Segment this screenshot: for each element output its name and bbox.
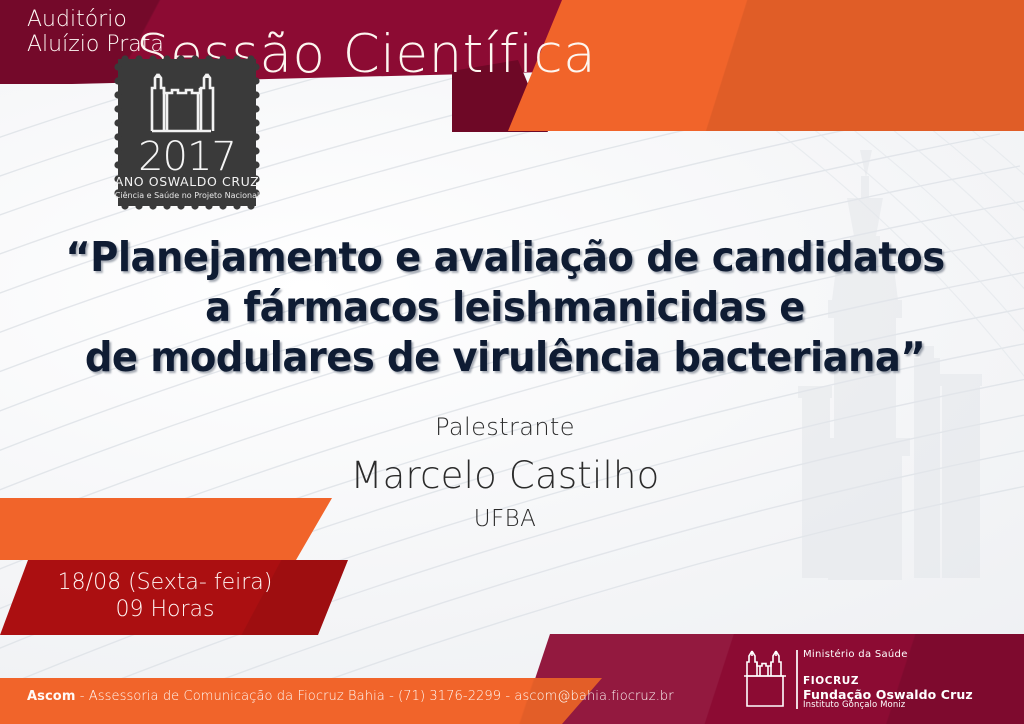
footer-contact-text: Ascom - Assessoria de Comunicação da Fio… [27, 689, 674, 704]
fiocruz-castle-icon [739, 648, 791, 710]
speaker-name: Marcelo Castilho [0, 454, 1010, 497]
institute-label: Instituto Gonçalo Moniz [803, 700, 905, 710]
footer-contact-rest: - Assessoria de Comunicação da Fiocruz B… [75, 689, 673, 704]
fiocruz-logo: Ministério da Saúde FIOCRUZ Fundação Osw… [739, 648, 1009, 710]
fiocruz-logo-divider [796, 650, 798, 709]
schedule-time: 09 Horas [0, 596, 330, 623]
lecture-title: “Planejamento e avaliação de candidatos … [0, 232, 1010, 382]
schedule-date: 18/08 (Sexta- feira) [0, 569, 330, 596]
svg-text:Ciência e Saúde no Projeto Nac: Ciência e Saúde no Projeto Nacional [115, 190, 259, 200]
schedule-text: 18/08 (Sexta- feira) 09 Horas [0, 569, 330, 623]
svg-text:ANO OSWALDO CRUZ: ANO OSWALDO CRUZ [115, 174, 260, 189]
speaker-role-label: Palestrante [0, 413, 1010, 441]
title-line-1: “Planejamento e avaliação de candidatos [30, 232, 979, 282]
poster-canvas: Sessão Científica [0, 0, 1024, 724]
venue-line-1: Auditório [27, 7, 164, 32]
title-line-3: de modulares de virulência bacteriana” [30, 332, 979, 382]
title-line-2: a fármacos leishmanicidas e [30, 282, 979, 332]
footer-ascom-label: Ascom [27, 689, 75, 704]
venue-text: Auditório Aluízio Prata [27, 7, 164, 57]
fiocruz-label: FIOCRUZ [803, 675, 859, 687]
ano-oswaldo-cruz-stamp-logo: 2017 ANO OSWALDO CRUZ Ciência e Saúde no… [114, 55, 260, 210]
venue-line-2: Aluízio Prata [27, 32, 164, 57]
ministry-label: Ministério da Saúde [803, 649, 908, 660]
